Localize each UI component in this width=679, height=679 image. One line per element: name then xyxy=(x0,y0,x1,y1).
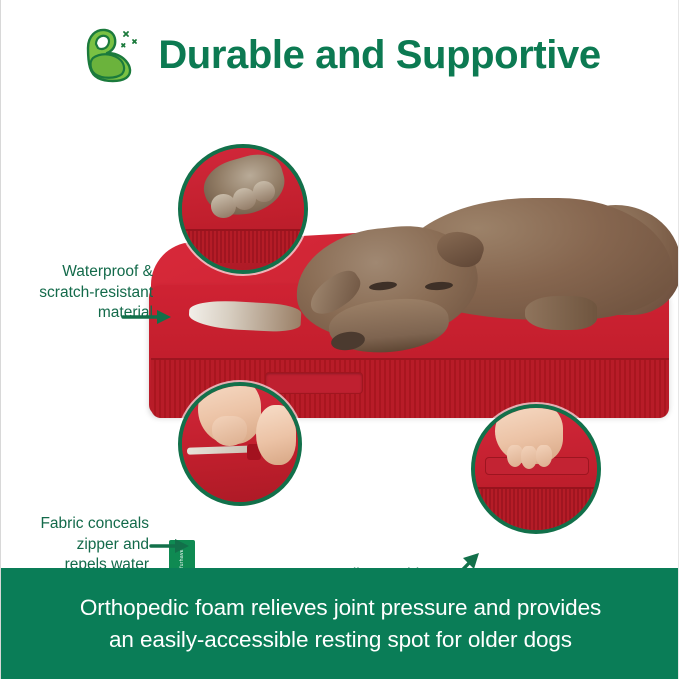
header: Durable and Supportive xyxy=(1,0,679,110)
callout-line: zipper and xyxy=(9,535,149,556)
bottom-banner: Orthopedic foam relieves joint pressure … xyxy=(1,568,679,679)
detail-circle-waterproof xyxy=(178,144,308,274)
banner-text: Orthopedic foam relieves joint pressure … xyxy=(62,592,619,656)
arrow-right-icon xyxy=(149,537,193,555)
hand-finger xyxy=(536,445,552,467)
arrow-up-right-icon xyxy=(439,548,485,568)
callout-zipper-text: Fabric conceals zipper and repels water xyxy=(9,514,149,568)
infographic-page: Durable and Supportive furhaven xyxy=(0,0,679,679)
callout-line: Fabric conceals xyxy=(9,514,149,535)
banner-line-1: Orthopedic foam relieves joint pressure … xyxy=(80,592,601,624)
page-title: Durable and Supportive xyxy=(158,33,600,78)
dog-rear-paw xyxy=(525,296,597,330)
paw-toe xyxy=(211,194,235,217)
fabric-seam xyxy=(471,487,601,530)
banner-line-2: an easily-accessible resting spot for ol… xyxy=(80,624,601,656)
arrow-right-icon xyxy=(121,308,175,326)
hand-finger xyxy=(507,445,523,467)
hand-closeup xyxy=(256,405,295,465)
product-photo-stage: furhaven xyxy=(1,110,679,568)
callout-line: Waterproof & xyxy=(13,262,153,283)
fabric-seam xyxy=(178,229,308,263)
paw-toe xyxy=(253,181,275,202)
flexed-bicep-icon xyxy=(80,22,144,84)
callout-line: repels water xyxy=(9,555,149,568)
callout-line: scratch-resistant xyxy=(13,283,153,304)
detail-circle-zipper xyxy=(178,382,302,506)
detail-circle-handle xyxy=(471,404,601,534)
